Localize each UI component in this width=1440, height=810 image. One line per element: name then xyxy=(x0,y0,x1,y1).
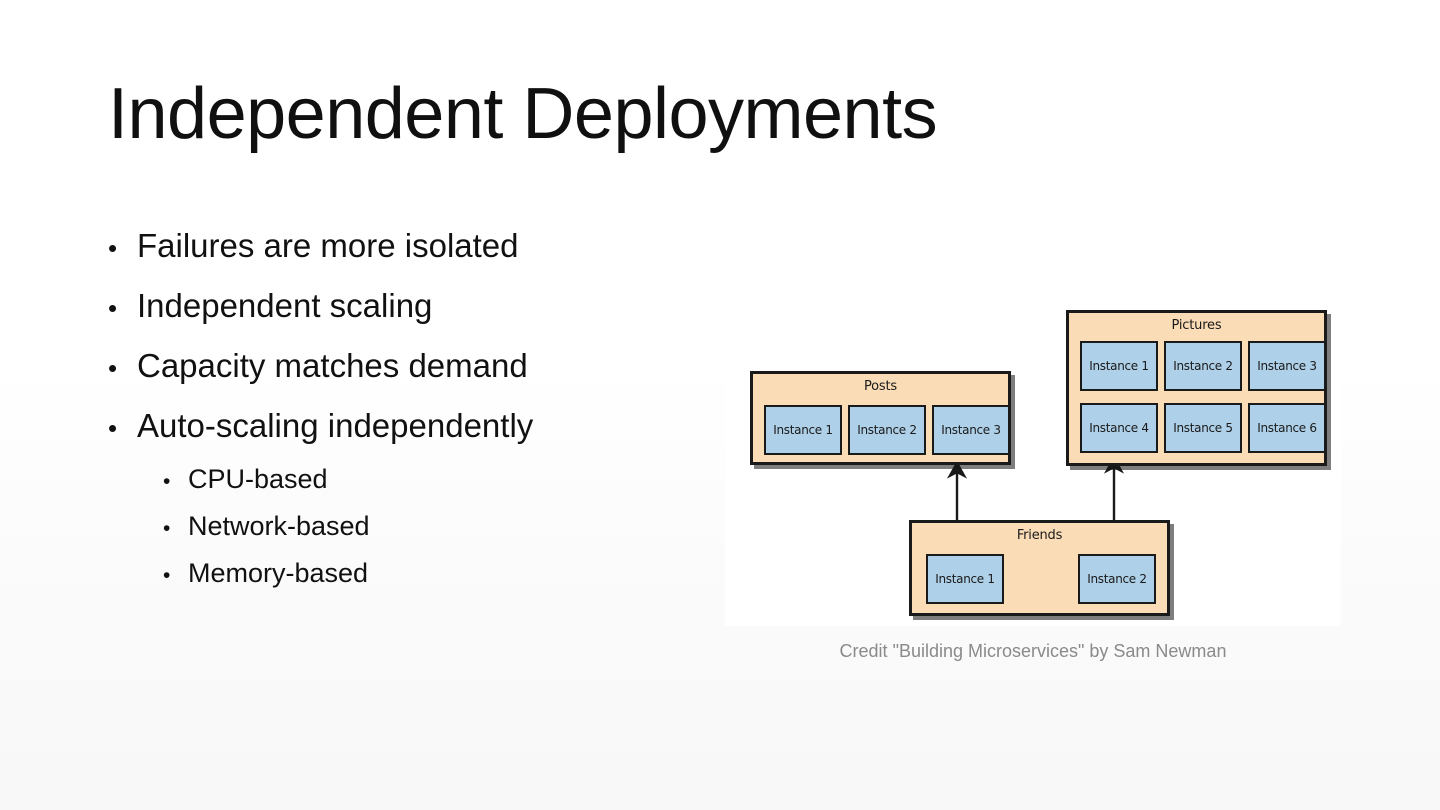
sub-list-item: • CPU-based xyxy=(108,456,708,503)
list-item-label: Capacity matches demand xyxy=(137,336,528,396)
instance-box: Instance 1 xyxy=(764,405,842,455)
bullet-marker-icon: • xyxy=(108,338,137,398)
sub-list-item-label: CPU-based xyxy=(188,456,328,503)
instance-box: Instance 2 xyxy=(1078,554,1156,604)
instance-box: Instance 3 xyxy=(932,405,1010,455)
bullet-marker-icon: • xyxy=(108,218,137,278)
bullet-list: • Failures are more isolated • Independe… xyxy=(108,216,708,597)
bullet-marker-icon: • xyxy=(163,552,188,599)
service-title: Posts xyxy=(753,379,1008,394)
bullet-marker-icon: • xyxy=(163,458,188,505)
instance-box: Instance 5 xyxy=(1164,403,1242,453)
bullet-marker-icon: • xyxy=(108,398,137,458)
list-item-label: Auto-scaling independently xyxy=(137,396,533,456)
instance-box: Instance 1 xyxy=(926,554,1004,604)
service-title: Friends xyxy=(912,528,1167,543)
instance-box: Instance 4 xyxy=(1080,403,1158,453)
page-title: Independent Deployments xyxy=(108,78,1108,150)
list-item-label: Failures are more isolated xyxy=(137,216,519,276)
sub-list-item: • Memory-based xyxy=(108,550,708,597)
service-box-pictures: Pictures Instance 1 Instance 2 Instance … xyxy=(1066,310,1327,466)
instance-box: Instance 3 xyxy=(1248,341,1326,391)
service-title: Pictures xyxy=(1069,318,1324,333)
service-box-friends: Friends Instance 1 Instance 2 xyxy=(909,520,1170,616)
list-item: • Auto-scaling independently xyxy=(108,396,708,456)
sub-list-item-label: Memory-based xyxy=(188,550,368,597)
instance-box: Instance 1 xyxy=(1080,341,1158,391)
instance-box: Instance 6 xyxy=(1248,403,1326,453)
list-item-label: Independent scaling xyxy=(137,276,432,336)
sub-list-item-label: Network-based xyxy=(188,503,370,550)
figure-credit: Credit "Building Microservices" by Sam N… xyxy=(725,641,1341,662)
service-box-posts: Posts Instance 1 Instance 2 Instance 3 xyxy=(750,371,1011,465)
instance-box: Instance 2 xyxy=(1164,341,1242,391)
list-item: • Failures are more isolated xyxy=(108,216,708,276)
list-item: • Capacity matches demand xyxy=(108,336,708,396)
list-item: • Independent scaling xyxy=(108,276,708,336)
sub-list-item: • Network-based xyxy=(108,503,708,550)
bullet-marker-icon: • xyxy=(108,278,137,338)
instance-box: Instance 2 xyxy=(848,405,926,455)
bullet-marker-icon: • xyxy=(163,505,188,552)
microservices-diagram: Posts Instance 1 Instance 2 Instance 3 P… xyxy=(725,264,1341,626)
